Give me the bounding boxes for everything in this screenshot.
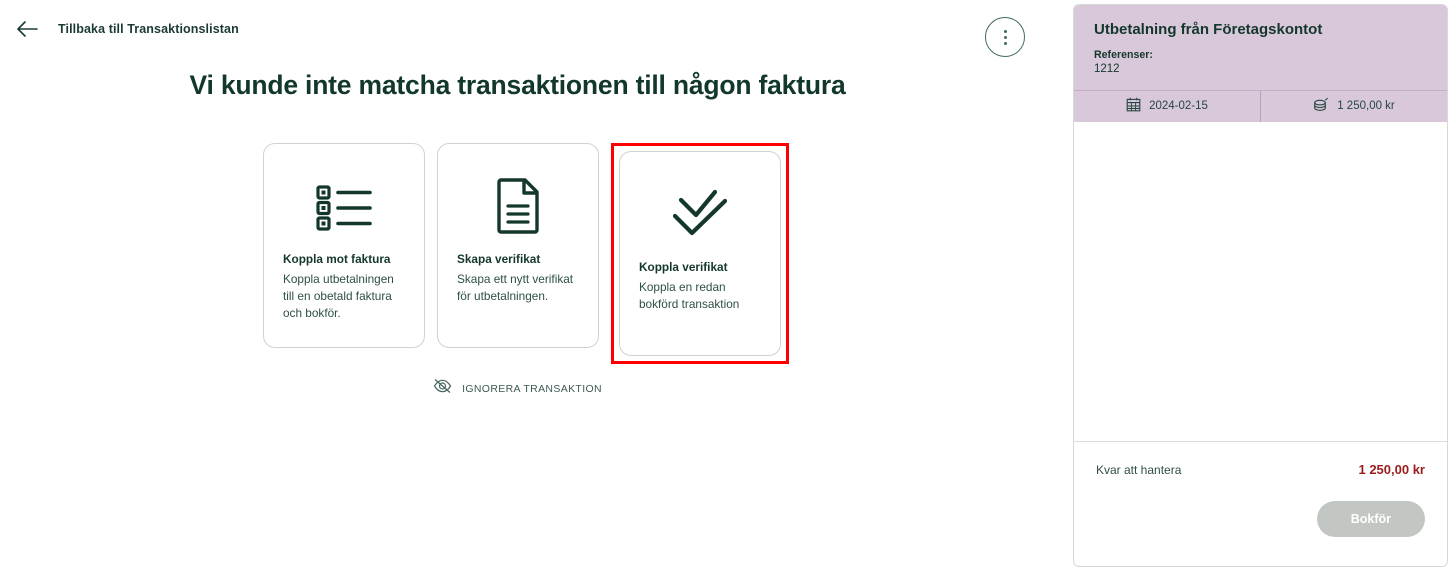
- calendar-icon: [1126, 97, 1141, 115]
- panel-body-empty-area: [1074, 122, 1447, 441]
- remaining-label: Kvar att hantera: [1096, 463, 1181, 477]
- option-card-koppla-verifikat[interactable]: Koppla verifikat Koppla en redan bokförd…: [619, 151, 781, 356]
- back-navigation[interactable]: Tillbaka till Transaktionslistan: [0, 16, 239, 42]
- option-card-title: Skapa verifikat: [457, 252, 579, 266]
- bokfor-button[interactable]: Bokför: [1317, 501, 1425, 537]
- main-content: Tillbaka till Transaktionslistan Vi kund…: [0, 0, 1070, 574]
- panel-footer: Kvar att hantera 1 250,00 kr Bokför: [1074, 441, 1447, 566]
- transaction-amount-cell: 1 250,00 kr: [1260, 91, 1447, 122]
- option-card-title: Koppla mot faktura: [283, 252, 405, 266]
- arrow-left-icon[interactable]: [14, 16, 40, 42]
- option-card-title: Koppla verifikat: [639, 260, 761, 274]
- eye-slash-icon: [433, 378, 452, 399]
- panel-title: Utbetalning från Företagskontot: [1094, 21, 1427, 38]
- transaction-date-cell: 2024-02-15: [1074, 91, 1260, 122]
- option-card-description: Koppla en redan bokförd transaktion: [639, 279, 761, 313]
- option-card-description: Koppla utbetalningen till en obetald fak…: [283, 271, 405, 323]
- references-label: Referenser:: [1094, 48, 1427, 62]
- ignore-transaction-label: IGNORERA TRANSAKTION: [462, 383, 602, 395]
- coins-icon: [1313, 97, 1329, 115]
- transaction-amount: 1 250,00 kr: [1337, 100, 1395, 112]
- back-link-label[interactable]: Tillbaka till Transaktionslistan: [58, 22, 239, 36]
- transaction-date: 2024-02-15: [1149, 100, 1208, 112]
- option-card-koppla-mot-faktura[interactable]: Koppla mot faktura Koppla utbetalningen …: [263, 143, 425, 348]
- list-icon: [283, 166, 405, 246]
- panel-header: Utbetalning från Företagskontot Referens…: [1074, 5, 1447, 90]
- option-card-skapa-verifikat[interactable]: Skapa verifikat Skapa ett nytt verifikat…: [437, 143, 599, 348]
- transaction-detail-panel: Utbetalning från Företagskontot Referens…: [1073, 4, 1448, 567]
- option-card-description: Skapa ett nytt verifikat för utbetalning…: [457, 271, 579, 305]
- references-value: 1212: [1094, 62, 1427, 78]
- kebab-dots: [1004, 30, 1007, 45]
- option-card-list: Koppla mot faktura Koppla utbetalningen …: [263, 143, 789, 364]
- remaining-row: Kvar att hantera 1 250,00 kr: [1096, 462, 1425, 477]
- panel-meta-row: 2024-02-15 1 250,00 kr: [1074, 90, 1447, 122]
- footer-actions: Bokför: [1096, 501, 1425, 537]
- ignore-transaction-button[interactable]: IGNORERA TRANSAKTION: [0, 378, 1035, 399]
- kebab-menu-icon[interactable]: [985, 17, 1025, 57]
- remaining-amount: 1 250,00 kr: [1358, 462, 1425, 477]
- app-screen: Tillbaka till Transaktionslistan Vi kund…: [0, 0, 1452, 574]
- document-icon: [457, 166, 579, 246]
- double-check-icon: [639, 174, 761, 254]
- option-card-selection-highlight: Koppla verifikat Koppla en redan bokförd…: [611, 143, 789, 364]
- page-title: Vi kunde inte matcha transaktionen till …: [0, 70, 1035, 101]
